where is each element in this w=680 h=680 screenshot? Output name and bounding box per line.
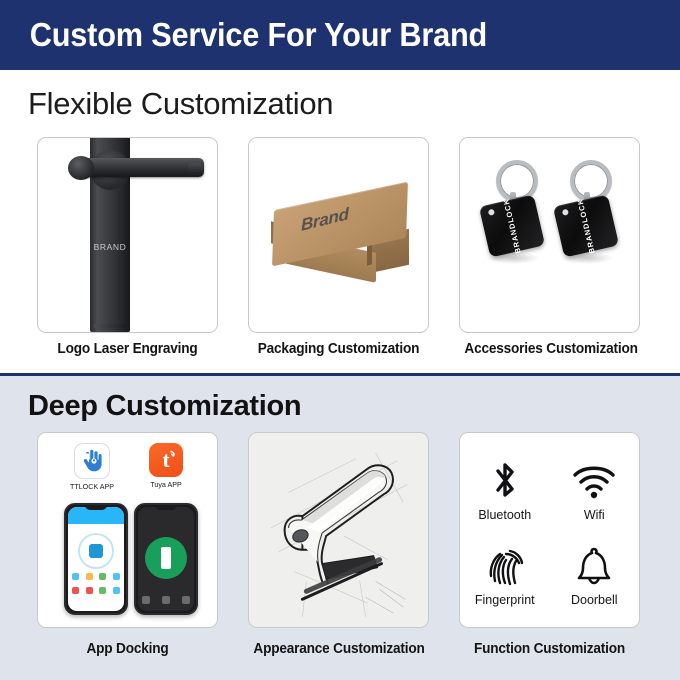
phone-notch	[155, 505, 177, 510]
section-heading-flexible: Flexible Customization	[28, 86, 333, 122]
tuya-app-icon: t	[149, 443, 183, 477]
ttlock-app-label: TTLOCK APP	[58, 482, 126, 491]
key-fob-brand-text-2: BRANDLOCK	[575, 197, 596, 254]
phone-bottom-nav	[142, 596, 190, 604]
door-handle-illustration: BRAND	[38, 138, 217, 332]
card-logo-laser-engraving[interactable]: BRAND	[37, 137, 218, 333]
key-fob-tag: BRANDLOCK	[479, 194, 545, 257]
section-heading-deep: Deep Customization	[28, 390, 301, 423]
function-item-doorbell[interactable]: Doorbell	[550, 532, 640, 617]
key-fob-brand-text-1: BRANDLOCK	[501, 197, 522, 254]
function-label-doorbell: Doorbell	[571, 593, 618, 607]
card-app-docking[interactable]: TTLOCK APP t Tuya APP	[37, 432, 218, 628]
caption-app-docking: App Docking	[42, 641, 212, 657]
grid-dot	[72, 573, 79, 580]
key-fob-shadow	[486, 252, 540, 264]
key-fob-1: BRANDLOCK	[482, 160, 546, 256]
grid-dot	[99, 587, 106, 594]
grid-dot	[99, 573, 106, 580]
caption-appearance-customization: Appearance Customization	[253, 641, 423, 657]
wifi-icon	[571, 458, 617, 504]
function-label-fingerprint: Fingerprint	[475, 593, 535, 607]
grid-dot	[72, 587, 79, 594]
phone-mockup-ttlock	[64, 503, 128, 615]
nav-icon	[182, 596, 190, 604]
caption-accessories-customization: Accessories Customization	[464, 341, 634, 357]
function-item-bluetooth[interactable]: Bluetooth	[460, 447, 550, 532]
caption-packaging-customization: Packaging Customization	[253, 341, 423, 357]
key-fob-shadow	[560, 252, 614, 264]
grid-dot	[113, 587, 120, 594]
header-banner: Custom Service For Your Brand	[0, 0, 680, 70]
page-title: Custom Service For Your Brand	[0, 16, 487, 54]
app-function-grid	[72, 573, 120, 601]
grid-dot	[86, 587, 93, 594]
smart-lock-status-icon	[145, 537, 187, 579]
function-item-wifi[interactable]: Wifi	[550, 447, 640, 532]
fingerprint-icon	[484, 543, 526, 589]
phone-screen-tuya	[138, 507, 194, 611]
handle-knob-end-shape	[68, 156, 94, 180]
card-packaging-customization[interactable]: Brand	[248, 137, 429, 333]
nav-icon	[162, 596, 170, 604]
function-item-fingerprint[interactable]: Fingerprint	[460, 532, 550, 617]
lock-status-icon	[78, 533, 114, 569]
poster-root: Custom Service For Your Brand Flexible C…	[0, 0, 680, 680]
function-icon-grid: Bluetooth Wifi	[460, 447, 639, 617]
phone-mockup-tuya	[134, 503, 198, 615]
caption-function-customization: Function Customization	[464, 641, 634, 657]
doorbell-icon	[573, 543, 615, 589]
nav-icon	[142, 596, 150, 604]
card-function-customization[interactable]: Bluetooth Wifi	[459, 432, 640, 628]
caption-logo-laser-engraving: Logo Laser Engraving	[42, 341, 212, 357]
handle-sketch-illustration	[249, 433, 428, 627]
card-appearance-customization[interactable]	[248, 432, 429, 628]
engraved-brand-text: BRAND	[90, 242, 130, 252]
carton-box-illustration: Brand	[249, 138, 428, 332]
function-label-bluetooth: Bluetooth	[478, 508, 531, 522]
app-entry-ttlock[interactable]: TTLOCK APP	[56, 443, 128, 491]
function-label-wifi: Wifi	[584, 508, 605, 522]
grid-dot	[113, 573, 120, 580]
grid-dot	[86, 573, 93, 580]
ttlock-app-icon	[74, 443, 110, 479]
bluetooth-icon	[485, 458, 525, 504]
app-entry-tuya[interactable]: t Tuya APP	[130, 443, 202, 489]
app-icon-row: TTLOCK APP t Tuya APP	[38, 443, 217, 497]
tuya-app-label: Tuya APP	[132, 480, 200, 489]
key-fob-2: BRANDLOCK	[556, 160, 620, 256]
key-fob-hole	[562, 209, 569, 216]
key-fob-hole	[488, 209, 495, 216]
phone-screen-ttlock	[68, 507, 124, 611]
phone-notch	[85, 505, 107, 510]
key-fob-tag: BRANDLOCK	[553, 194, 619, 257]
card-accessories-customization[interactable]: BRANDLOCK BRANDLOCK	[459, 137, 640, 333]
